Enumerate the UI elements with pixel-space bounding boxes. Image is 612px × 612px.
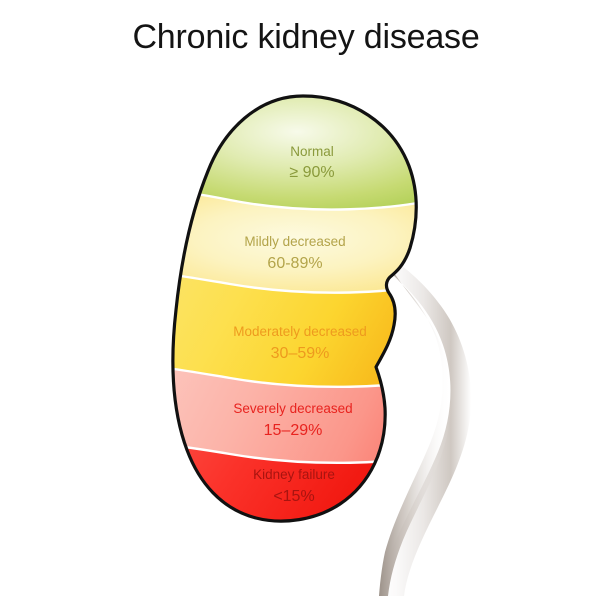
band-value-mildly-decreased: 60-89% — [267, 255, 322, 272]
band-value-moderately-decreased: 30–59% — [271, 345, 330, 362]
diagram-canvas: Chronic kidney disease — [0, 0, 612, 612]
band-label-normal: Normal — [290, 144, 334, 159]
band-label-moderately-decreased: Moderately decreased — [233, 324, 367, 339]
kidney-figure: Normal ≥ 90% Mildly decreased 60-89% Mod… — [0, 0, 612, 612]
band-value-severely-decreased: 15–29% — [264, 422, 323, 439]
kidney-diagram-svg: Normal ≥ 90% Mildly decreased 60-89% Mod… — [0, 0, 612, 612]
band-label-severely-decreased: Severely decreased — [233, 401, 352, 416]
band-value-kidney-failure: <15% — [273, 488, 314, 505]
band-label-kidney-failure: Kidney failure — [253, 467, 335, 482]
band-label-mildly-decreased: Mildly decreased — [244, 234, 345, 249]
band-value-normal: ≥ 90% — [289, 164, 334, 181]
